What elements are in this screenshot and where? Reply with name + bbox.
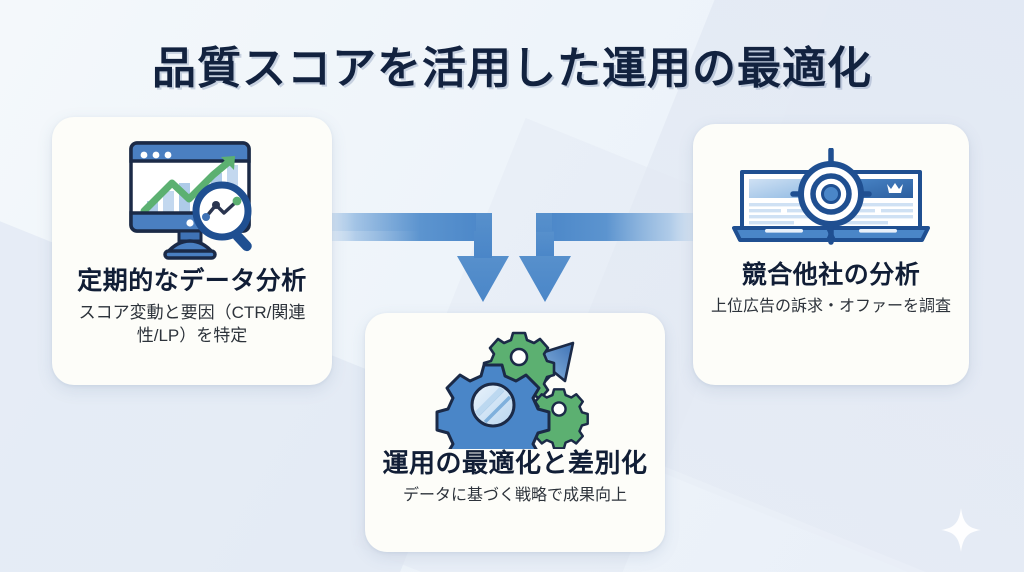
page-title: 品質スコアを活用した運用の最適化 bbox=[0, 32, 1024, 96]
gears-growth-arrow-icon bbox=[435, 331, 595, 449]
card-optimization[interactable]: 運用の最適化と差別化 データに基づく戦略で成果向上 bbox=[365, 313, 665, 552]
monitor-chart-magnifier-icon bbox=[117, 139, 267, 261]
card-description: スコア変動と要因（CTR/関連性/LP）を特定 bbox=[66, 302, 318, 348]
card-title: 定期的なデータ分析 bbox=[77, 267, 307, 296]
slide-canvas: 品質スコアを活用した運用の最適化 bbox=[0, 0, 1024, 572]
card-competitor-analysis[interactable]: 競合他社の分析 上位広告の訴求・オファーを調査 bbox=[693, 124, 969, 385]
card-description: データに基づく戦略で成果向上 bbox=[403, 485, 627, 507]
arrow-left-to-center bbox=[318, 213, 509, 302]
card-title: 競合他社の分析 bbox=[742, 261, 921, 290]
card-description: 上位広告の訴求・オファーを調査 bbox=[711, 296, 951, 318]
sparkle-icon bbox=[941, 508, 981, 552]
card-data-analysis[interactable]: 定期的なデータ分析 スコア変動と要因（CTR/関連性/LP）を特定 bbox=[52, 117, 332, 385]
card-title: 運用の最適化と差別化 bbox=[382, 449, 647, 479]
arrow-right-to-center bbox=[519, 213, 706, 302]
laptops-target-crown-icon bbox=[732, 148, 930, 261]
